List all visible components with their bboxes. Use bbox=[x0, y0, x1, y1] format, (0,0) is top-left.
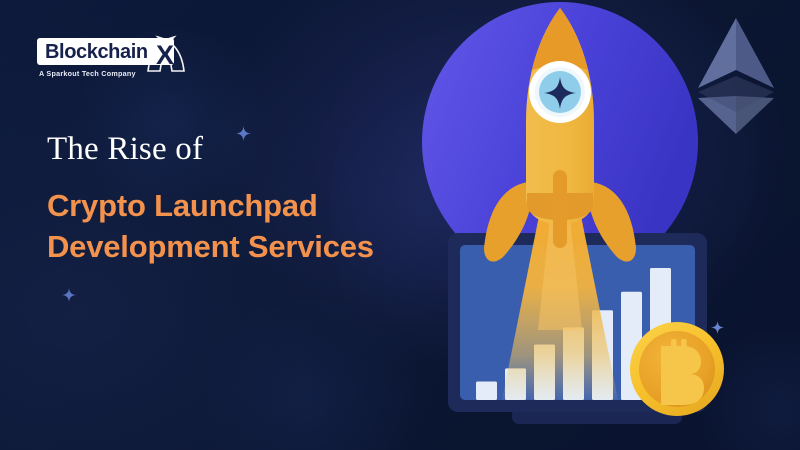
promo-banner: Blockchain X A Sparkout Tech Company The… bbox=[0, 0, 800, 450]
illustration bbox=[400, 0, 800, 450]
logo[interactable]: Blockchain X A Sparkout Tech Company bbox=[37, 38, 167, 78]
sparkle-star-2-icon bbox=[62, 288, 76, 307]
logo-wordmark: Blockchain bbox=[45, 41, 148, 63]
illustration-svg bbox=[400, 0, 800, 450]
svg-text:X: X bbox=[156, 40, 174, 70]
logo-plate: Blockchain X bbox=[37, 38, 174, 65]
logo-x-mark-icon: X bbox=[144, 31, 188, 75]
ethereum-logo-icon bbox=[698, 18, 774, 134]
bitcoin-coin-icon bbox=[630, 322, 724, 416]
